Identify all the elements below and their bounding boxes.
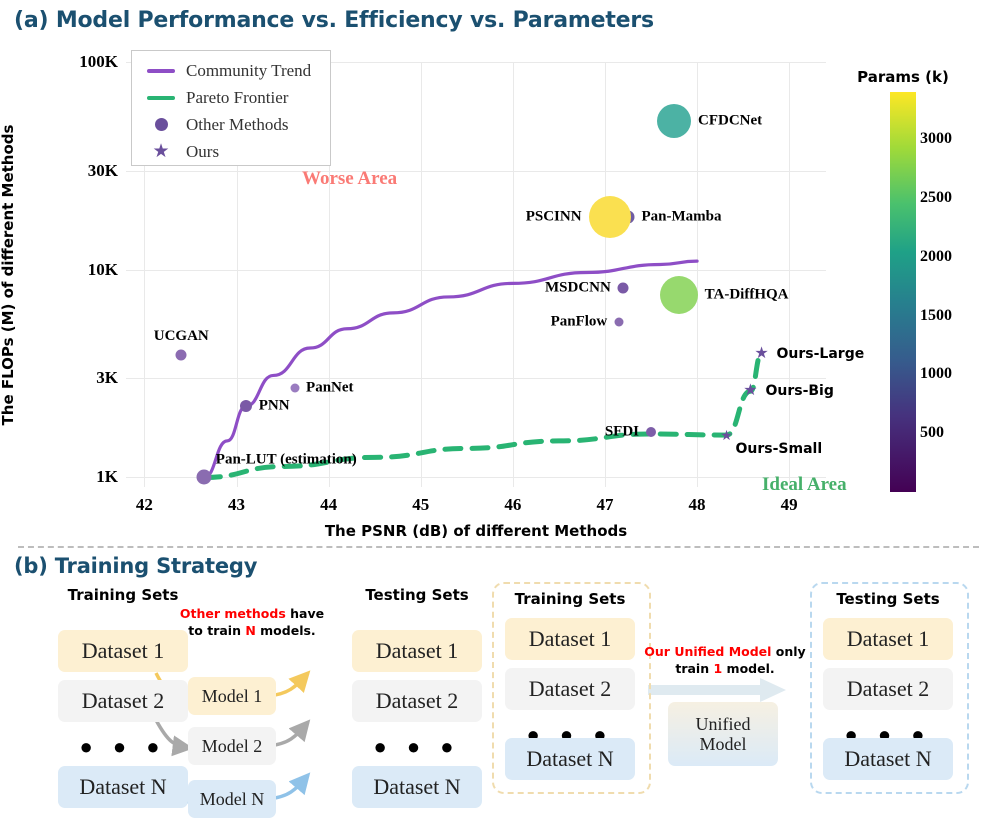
point-label-ours-large: Ours-Large xyxy=(777,346,865,362)
point-label-pannet: PanNet xyxy=(306,379,354,396)
panel-divider xyxy=(18,546,979,548)
right-testing-header: Testing Sets xyxy=(836,590,939,608)
left-training-header: Training Sets xyxy=(68,586,179,604)
point-ours-large[interactable]: ★ xyxy=(754,346,768,362)
left-note-rest1: have xyxy=(286,606,324,621)
right-testing-dataset-2[interactable]: Dataset 2 xyxy=(823,668,953,710)
worse-area-annotation: Worse Area xyxy=(302,168,397,190)
unified-model-line-1: Unified xyxy=(696,714,751,734)
x-tick-label: 44 xyxy=(320,495,337,515)
ideal-area-annotation: Ideal Area xyxy=(762,474,847,496)
legend-label: Ours xyxy=(180,142,219,162)
legend-line-swatch xyxy=(147,96,175,100)
right-training-dataset-2[interactable]: Dataset 2 xyxy=(505,668,635,710)
x-tick-label: 47 xyxy=(596,495,613,515)
right-training-dataset-1[interactable]: Dataset 1 xyxy=(505,618,635,660)
left-testing-header: Testing Sets xyxy=(365,586,468,604)
point-ta-diffhqa[interactable] xyxy=(660,276,698,314)
point-label-panflow: PanFlow xyxy=(551,314,608,331)
model-n-box[interactable]: Model N xyxy=(188,780,276,818)
legend-item-community-trend[interactable]: Community Trend xyxy=(132,57,330,84)
colorbar-tick-label: 500 xyxy=(920,424,944,442)
point-pannet[interactable] xyxy=(290,383,299,392)
x-axis-label: The PSNR (dB) of different Methods xyxy=(126,522,826,540)
point-ours-big[interactable]: ★ xyxy=(743,383,757,399)
legend-item-ours[interactable]: ★Ours xyxy=(132,138,330,165)
left-note-hl2: N xyxy=(245,623,255,638)
legend-key xyxy=(142,118,180,131)
y-tick-label: 10K xyxy=(60,260,118,280)
point-label-ta-diffhqa: TA-DiffHQA xyxy=(705,286,789,303)
y-tick-label: 100K xyxy=(60,52,118,72)
left-testing-dataset-2[interactable]: Dataset 2 xyxy=(352,680,482,722)
y-axis-label-holder: The FLOPs (M) of different Methods xyxy=(18,62,19,487)
point-label-ours-big: Ours-Big xyxy=(765,383,833,399)
point-pscinn[interactable] xyxy=(589,196,631,238)
series-community-trend xyxy=(204,261,697,477)
colorbar-gradient xyxy=(890,92,916,492)
left-note-hl1: Other methods xyxy=(180,606,286,621)
model-1-box[interactable]: Model 1 xyxy=(188,677,276,715)
point-label-sfdi: SFDI xyxy=(605,424,639,441)
x-tick-label: 48 xyxy=(689,495,706,515)
x-tick-label: 45 xyxy=(412,495,429,515)
right-note-post2: model. xyxy=(722,661,774,676)
y-axis-label: The FLOPs (M) of different Methods xyxy=(0,124,17,425)
point-ucgan[interactable] xyxy=(176,349,187,360)
left-testing-dataset-1[interactable]: Dataset 1 xyxy=(352,630,482,672)
right-note-rest1: only xyxy=(771,644,805,659)
point-ours-small[interactable]: ★ xyxy=(720,428,733,442)
x-tick-label: 43 xyxy=(228,495,245,515)
right-training-dataset-n[interactable]: Dataset N xyxy=(505,738,635,780)
legend-item-other-methods[interactable]: Other Methods xyxy=(132,111,330,138)
point-label-pan-mamba: Pan-Mamba xyxy=(641,208,721,225)
left-training-dataset-2[interactable]: Dataset 2 xyxy=(58,680,188,722)
left-training-dataset-1[interactable]: Dataset 1 xyxy=(58,630,188,672)
point-label-ours-small: Ours-Small xyxy=(736,441,823,457)
x-tick-label: 46 xyxy=(504,495,521,515)
panel-model-performance: (a) Model Performance vs. Efficiency vs.… xyxy=(0,0,997,545)
legend-key: ★ xyxy=(142,142,180,161)
chart-legend[interactable]: Community TrendPareto FrontierOther Meth… xyxy=(131,50,331,166)
left-note-post2: models. xyxy=(256,623,316,638)
colorbar-tick-label: 1500 xyxy=(920,307,952,325)
point-label-ucgan: UCGAN xyxy=(154,328,209,345)
right-note-hl1: Our Unified Model xyxy=(644,644,771,659)
y-tick-label: 1K xyxy=(60,467,118,487)
point-label-pan-lut-estimation: Pan-LUT (estimation) xyxy=(216,452,357,469)
unified-model-line-2: Model xyxy=(700,734,747,754)
left-note-pre2: to train xyxy=(188,623,245,638)
legend-star-swatch: ★ xyxy=(152,142,169,161)
point-cfdcnet[interactable] xyxy=(657,104,691,138)
right-note-pre2: train xyxy=(675,661,713,676)
page-title: (a) Model Performance vs. Efficiency vs.… xyxy=(14,8,654,33)
point-label-msdcnn: MSDCNN xyxy=(545,279,611,296)
point-label-cfdcnet: CFDCNet xyxy=(698,112,762,129)
colorbar-tick-label: 1000 xyxy=(920,365,952,383)
legend-label: Community Trend xyxy=(180,61,311,81)
legend-item-pareto-frontier[interactable]: Pareto Frontier xyxy=(132,84,330,111)
right-note: Our Unified Model only train 1 model. xyxy=(644,644,805,678)
colorbar-tick-label: 2000 xyxy=(920,248,952,266)
point-label-pnn: PNN xyxy=(259,398,290,415)
left-testing-dataset-n[interactable]: Dataset N xyxy=(352,766,482,808)
point-pnn[interactable] xyxy=(240,400,252,412)
right-training-header: Training Sets xyxy=(515,590,626,608)
legend-dot-swatch xyxy=(155,118,168,131)
colorbar-tick-label: 3000 xyxy=(920,130,952,148)
left-training-dataset-n[interactable]: Dataset N xyxy=(58,766,188,808)
left-testing-ellipsis: ● ● ● xyxy=(373,736,460,758)
point-msdcnn[interactable] xyxy=(618,282,629,293)
panel-training-strategy: Training Sets Testing Sets Other methods… xyxy=(0,560,997,806)
legend-key xyxy=(142,96,180,100)
left-training-ellipsis: ● ● ● xyxy=(79,736,166,758)
point-pan-lut-estimation[interactable] xyxy=(197,470,212,485)
legend-line-swatch xyxy=(147,69,175,73)
x-tick-label: 42 xyxy=(136,495,153,515)
legend-label: Pareto Frontier xyxy=(180,88,288,108)
right-note-hl2: 1 xyxy=(713,661,722,676)
x-tick-label: 49 xyxy=(781,495,798,515)
model-2-box[interactable]: Model 2 xyxy=(188,727,276,765)
point-sfdi[interactable] xyxy=(646,427,656,437)
legend-label: Other Methods xyxy=(180,115,288,135)
point-panflow[interactable] xyxy=(614,318,623,327)
y-tick-label: 30K xyxy=(60,161,118,181)
right-testing-dataset-n[interactable]: Dataset N xyxy=(823,738,953,780)
y-tick-label: 3K xyxy=(60,368,118,388)
legend-key xyxy=(142,69,180,73)
colorbar-tick-label: 2500 xyxy=(920,189,952,207)
right-testing-dataset-1[interactable]: Dataset 1 xyxy=(823,618,953,660)
left-note: Other methods have to train N models. xyxy=(180,606,324,640)
point-label-pscinn: PSCINN xyxy=(526,208,582,225)
colorbar-title: Params (k) xyxy=(857,68,949,86)
colorbar: 30002500200015001000500 xyxy=(890,92,916,492)
unified-model-box[interactable]: Unified Model xyxy=(668,702,778,766)
